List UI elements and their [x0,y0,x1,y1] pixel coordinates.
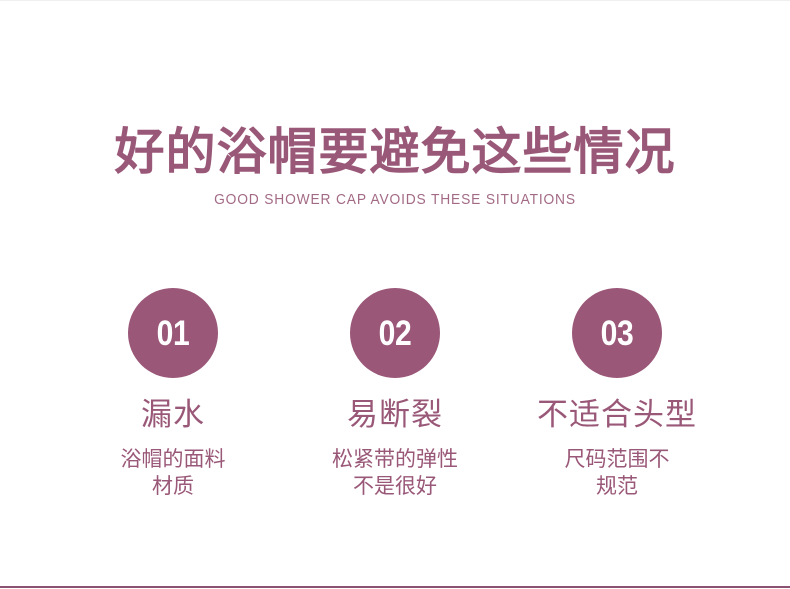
number-badge-01: 01 [128,288,218,378]
feature-column-01: 01 漏水 浴帽的面料 材质 [62,288,284,500]
feature-description-line-1: 松紧带的弹性 [332,446,458,473]
badge-number-label: 03 [601,316,634,351]
number-badge-02: 02 [350,288,440,378]
feature-description-02: 松紧带的弹性 不是很好 [332,446,458,500]
feature-description-line-2: 规范 [565,473,670,500]
feature-title-03: 不适合头型 [537,396,697,434]
feature-title-01: 漏水 [141,396,205,434]
number-badge-03: 03 [572,288,662,378]
feature-description-line-1: 浴帽的面料 [121,446,226,473]
badge-number-label: 01 [157,316,190,351]
promo-banner: 好的浴帽要避免这些情况 GOOD SHOWER CAP AVOIDS THESE… [0,0,790,589]
feature-column-03: 03 不适合头型 尺码范围不 规范 [506,288,728,500]
header-block: 好的浴帽要避免这些情况 GOOD SHOWER CAP AVOIDS THESE… [0,123,790,210]
page-title: 好的浴帽要避免这些情况 [0,123,790,181]
feature-description-line-2: 材质 [121,473,226,500]
feature-title-02: 易断裂 [347,396,443,434]
feature-description-03: 尺码范围不 规范 [565,446,670,500]
feature-description-01: 浴帽的面料 材质 [121,446,226,500]
feature-columns: 01 漏水 浴帽的面料 材质 02 易断裂 松紧带的弹性 不是很好 03 不适合… [62,288,728,500]
bottom-divider [0,586,790,588]
feature-column-02: 02 易断裂 松紧带的弹性 不是很好 [284,288,506,500]
page-subtitle: GOOD SHOWER CAP AVOIDS THESE SITUATIONS [32,190,759,210]
feature-description-line-1: 尺码范围不 [565,446,670,473]
badge-number-label: 02 [379,316,412,351]
feature-description-line-2: 不是很好 [332,473,458,500]
